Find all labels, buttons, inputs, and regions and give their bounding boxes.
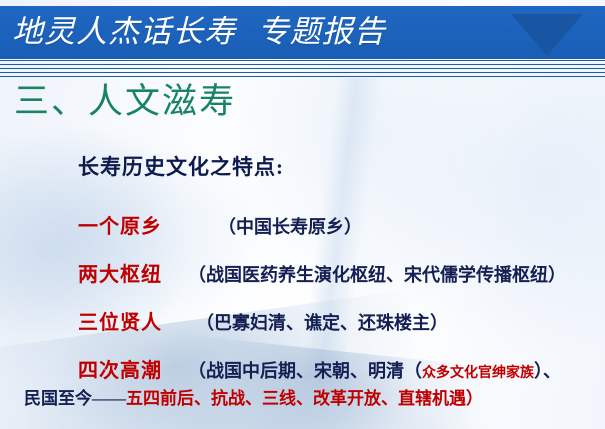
point-detail-part2: ）、 [534,357,561,383]
point-detail-part1: （战国中后期、宋朝、明清（ [188,357,422,383]
point-label: 两大枢纽 [78,258,162,287]
point-label: 一个原乡 [78,210,162,239]
slide-canvas: 地灵人杰话长寿 专题报告 三、人文滋寿 长寿历史文化之特点: 一个原乡（中国长寿… [0,0,605,429]
point-detail-emphasis: 众多文化官绅家族 [422,366,534,381]
divider-rule [0,60,605,61]
point-detail: （中国长寿原乡） [218,213,362,239]
section-heading: 三、人文滋寿 [14,79,236,125]
point-row: 四次高潮（战国中后期、宋朝、明清（众多文化官绅家族）、 [78,354,561,383]
continuation-row: 民国至今——五四前后、抗战、三线、改革开放、直辖机遇） [24,384,483,409]
point-label: 三位贤人 [78,306,162,335]
divider-rule [0,72,605,73]
continuation-navy-text: 民国至今—— [24,389,126,408]
point-row: 三位贤人（巴寡妇清、谯定、还珠楼主） [78,306,448,335]
triangle-down-icon [511,14,583,56]
continuation-red-text: 五四前后、抗战、三线、改革开放、直辖机遇） [126,389,483,408]
point-detail: （战国医药养生演化枢纽、宋代儒学传播枢纽） [188,261,566,287]
point-detail: （巴寡妇清、谯定、还珠楼主） [196,309,448,335]
divider-rule [0,76,605,77]
point-row: 一个原乡（中国长寿原乡） [78,210,362,239]
header-divider-rules [0,60,605,77]
divider-rule [0,64,605,65]
content-subtitle: 长寿历史文化之特点: [78,152,284,182]
point-row: 两大枢纽（战国医药养生演化枢纽、宋代儒学传播枢纽） [78,258,566,287]
point-label: 四次高潮 [78,354,162,383]
divider-rule [0,68,605,69]
presentation-title: 地灵人杰话长寿 专题报告 [12,9,386,56]
header-band: 地灵人杰话长寿 专题报告 [0,6,605,59]
